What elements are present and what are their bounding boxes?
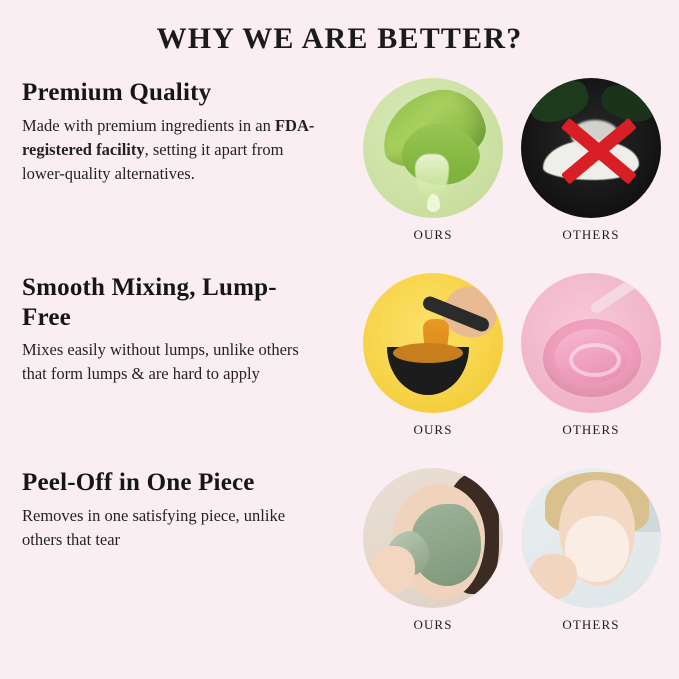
row-image-pair: OURS OTHERS <box>331 78 661 243</box>
benefit-rows: Premium Quality Made with premium ingred… <box>0 78 679 663</box>
benefit-row-premium-quality: Premium Quality Made with premium ingred… <box>0 78 679 273</box>
row-text-column: Smooth Mixing, Lump-Free Mixes easily wi… <box>22 273 322 386</box>
pink-lumpy-mask-bowl-photo <box>521 273 661 413</box>
row-text-column: Premium Quality Made with premium ingred… <box>22 78 322 186</box>
benefit-row-smooth-mixing: Smooth Mixing, Lump-Free Mixes easily wi… <box>0 273 679 468</box>
infographic-page: WHY WE ARE BETTER? Premium Quality Made … <box>0 0 679 679</box>
page-title: WHY WE ARE BETTER? <box>0 22 679 56</box>
row-body: Removes in one satisfying piece, unlike … <box>22 504 322 552</box>
ours-caption: OURS <box>363 617 503 633</box>
row-title: Smooth Mixing, Lump-Free <box>22 273 322 332</box>
others-caption: OTHERS <box>521 227 661 243</box>
hand-shape <box>369 546 415 594</box>
row-image-pair: OURS OTHERS <box>331 273 661 438</box>
others-caption: OTHERS <box>521 617 661 633</box>
gel-drop-shape <box>427 194 440 212</box>
mask-swirl-shape <box>569 343 621 377</box>
black-bowl-smooth-mix-photo <box>363 273 503 413</box>
red-x-icon <box>555 107 641 193</box>
ours-caption: OURS <box>363 227 503 243</box>
dark-powder-rejected-photo <box>521 78 661 218</box>
woman-torn-mask-clinic-photo <box>521 468 661 608</box>
row-image-pair: OURS OTHERS <box>331 468 661 633</box>
bowl-content-shape <box>393 343 463 363</box>
row-title: Premium Quality <box>22 78 322 108</box>
others-cell: OTHERS <box>521 78 661 243</box>
row-body-pre: Made with premium ingredients in an <box>22 116 275 135</box>
aloe-vera-gel-photo <box>363 78 503 218</box>
row-title: Peel-Off in One Piece <box>22 468 322 498</box>
hand-shape <box>529 554 577 600</box>
row-text-column: Peel-Off in One Piece Removes in one sat… <box>22 468 322 552</box>
others-caption: OTHERS <box>521 422 661 438</box>
row-body: Mixes easily without lumps, unlike other… <box>22 338 322 386</box>
others-cell: OTHERS <box>521 273 661 438</box>
others-cell: OTHERS <box>521 468 661 633</box>
brush-shape <box>589 274 643 316</box>
ours-caption: OURS <box>363 422 503 438</box>
woman-peeling-green-mask-photo <box>363 468 503 608</box>
ours-cell: OURS <box>363 468 503 633</box>
ours-cell: OURS <box>363 78 503 243</box>
ours-cell: OURS <box>363 273 503 438</box>
row-body: Made with premium ingredients in an FDA-… <box>22 114 322 186</box>
benefit-row-peel-off: Peel-Off in One Piece Removes in one sat… <box>0 468 679 663</box>
